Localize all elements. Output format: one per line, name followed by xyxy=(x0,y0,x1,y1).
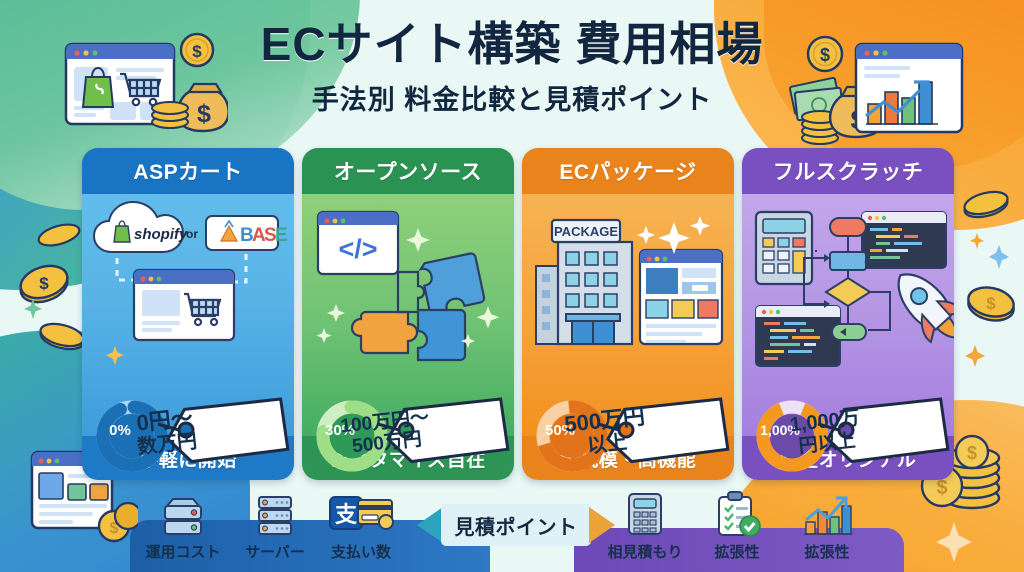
card-title: オープンソース xyxy=(302,148,514,194)
asp-illustration: shopify or B A S E xyxy=(82,194,294,399)
price-tag-text: 1,000万 円以上 xyxy=(742,385,888,480)
banner-label: 見積ポイント xyxy=(455,511,578,540)
page-title: ECサイト構築 費用相場 xyxy=(0,20,1024,70)
card-title: ECパッケージ xyxy=(522,148,734,194)
growth-chart-icon xyxy=(784,488,870,538)
code-tag-glyph: </> xyxy=(338,234,377,264)
point-extensibility-growth[interactable]: 拡張性 xyxy=(784,488,870,562)
point-extensibility-checklist[interactable]: 拡張性 xyxy=(694,488,780,562)
point-label: 支払い数 xyxy=(318,541,404,562)
card-asp-cart[interactable]: ASPカート shopify or B xyxy=(82,148,294,480)
price-line-2: 円以上 xyxy=(798,430,857,457)
open-source-illustration: </> xyxy=(302,194,514,399)
price-tag-text: 500万円 以上 xyxy=(522,385,668,480)
point-label: サーバー xyxy=(232,541,318,562)
point-label: 拡張性 xyxy=(784,541,870,562)
card-title: ASPカート xyxy=(82,148,294,194)
payment-card-icon: 支 xyxy=(318,488,404,538)
card-body: 1,00% 1,000万 円以上 xyxy=(742,194,954,436)
base-logo: B A S E xyxy=(206,216,288,250)
point-payment-methods[interactable]: 支 支払い数 xyxy=(318,488,404,562)
price-row: 0% 0円〜 数万円 xyxy=(82,392,294,480)
header: ECサイト構築 費用相場 手法別 料金比較と見積ポイント xyxy=(0,20,1024,117)
svg-text:支: 支 xyxy=(335,502,358,527)
point-operating-cost[interactable]: 運用コスト xyxy=(140,488,226,562)
price-tag-text: 100万円〜 500万円 xyxy=(302,385,448,480)
rocket-icon xyxy=(884,260,954,353)
svg-text:E: E xyxy=(275,225,288,246)
server-stack-icon xyxy=(140,488,226,538)
server-rack-icon xyxy=(232,488,318,538)
card-open-source[interactable]: オープンソース </> xyxy=(302,148,514,480)
price-row: 30% 100万円〜 500万円 xyxy=(302,392,514,480)
card-full-scratch[interactable]: フルスクラッチ xyxy=(742,148,954,480)
card-body: shopify or B A S E xyxy=(82,194,294,436)
full-scratch-illustration xyxy=(742,194,954,399)
point-label: 相見積もり xyxy=(602,541,688,562)
point-label: 運用コスト xyxy=(140,541,226,562)
package-illustration: PACKAGE xyxy=(522,194,734,399)
package-sign-label: PACKAGE xyxy=(554,224,618,239)
price-row: 50% 500万円 以上 xyxy=(522,392,734,480)
card-body: PACKAGE xyxy=(522,194,734,436)
price-line-2: 数万円 xyxy=(136,431,198,460)
arrow-left-icon xyxy=(417,507,443,543)
point-label: 拡張性 xyxy=(694,541,780,562)
estimate-points-banner: 見積ポイント xyxy=(417,504,613,546)
svg-text:shopify: shopify xyxy=(134,226,188,243)
price-row: 1,00% 1,000万 円以上 xyxy=(742,392,954,480)
banner-box: 見積ポイント xyxy=(441,504,591,546)
logo-connector-or: or xyxy=(186,227,198,241)
page-subtitle: 手法別 料金比較と見積ポイント xyxy=(0,78,1024,117)
checklist-clipboard-icon xyxy=(694,488,780,538)
point-server[interactable]: サーバー xyxy=(232,488,318,562)
arrow-right-icon xyxy=(589,507,615,543)
price-line-2: 以上 xyxy=(586,432,628,458)
card-ec-package[interactable]: ECパッケージ PACKAGE xyxy=(522,148,734,480)
card-title: フルスクラッチ xyxy=(742,148,954,194)
infographic-canvas: $ $ $ xyxy=(0,0,1024,572)
price-tag-text: 0円〜 数万円 xyxy=(82,385,228,480)
comparison-cards: ASPカート shopify or B xyxy=(0,148,1024,480)
card-body: </> xyxy=(302,194,514,436)
